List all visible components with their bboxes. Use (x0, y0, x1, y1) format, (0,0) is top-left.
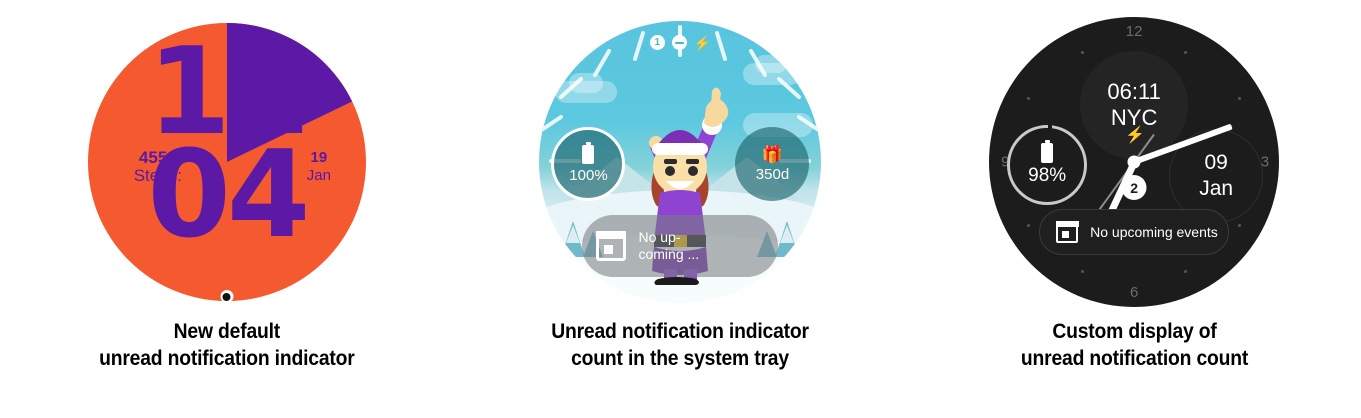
panel-caption-1: New default unread notification indicato… (99, 318, 355, 372)
event-text-line-2: coming ... (638, 246, 699, 263)
panel-caption-2: Unread notification indicator count in t… (552, 318, 810, 372)
battery-complication[interactable]: 98% (1007, 125, 1087, 205)
battery-value: 100% (569, 167, 607, 184)
hour-marker-6: 6 (1130, 284, 1138, 301)
winter-illustration-watch-face[interactable]: 1 ⚡ 100% 🎁 350d No up- coming ... (539, 21, 821, 303)
cloud-decoration (755, 55, 787, 73)
do-not-disturb-icon[interactable] (672, 35, 687, 50)
hour-tick (1184, 51, 1187, 54)
watch-preview-3: 12 3 6 9 06:11 NYC ⚡ 09 J (989, 12, 1279, 312)
hour-tick (1238, 224, 1241, 227)
hour-digits: 11 (88, 41, 366, 144)
unread-notification-dot-icon[interactable] (218, 288, 235, 301)
gift-countdown-complication[interactable]: 🎁 350d (735, 127, 809, 201)
panel-caption-3: Custom display of unread notification co… (1021, 318, 1248, 372)
event-text-line-1: No up- (638, 229, 699, 246)
caption-line-1: Custom display of (1021, 318, 1248, 345)
hour-tick (1027, 97, 1030, 100)
digital-time: 11 04 (88, 41, 366, 247)
gift-icon: 🎁 (762, 146, 783, 163)
unread-count-badge[interactable]: 1 (650, 35, 665, 50)
date-day: 09 (1204, 150, 1227, 176)
hour-tick (1081, 270, 1084, 273)
date-month: Jan (288, 167, 350, 185)
gift-countdown-value: 350d (756, 166, 789, 183)
panel-custom-unread-count: 12 3 6 9 06:11 NYC ⚡ 09 J (914, 0, 1354, 418)
cloud-decoration (569, 73, 603, 93)
event-text: No up- coming ... (638, 229, 699, 263)
system-tray: 1 ⚡ (539, 35, 821, 50)
hour-tick (1027, 224, 1030, 227)
watch-preview-1: 11 04 4556 Steps: 19 Jan (82, 12, 372, 312)
date-complication[interactable]: 19 Jan (288, 149, 350, 185)
caption-line-1: Unread notification indicator (552, 318, 810, 345)
watch-face-comparison-board: 11 04 4556 Steps: 19 Jan New default unr… (0, 0, 1361, 418)
caption-line-2: unread notification count (1021, 345, 1248, 372)
battery-icon (1041, 143, 1053, 163)
event-complication-pill[interactable]: No upcoming events (1039, 209, 1229, 255)
panel-new-default-indicator: 11 04 4556 Steps: 19 Jan New default unr… (7, 0, 447, 418)
caption-line-1: New default (99, 318, 355, 345)
date-month: Jan (1199, 176, 1233, 202)
steps-value: 4556 (108, 149, 208, 167)
battery-progress-ring (1007, 125, 1087, 205)
hour-tick (1081, 51, 1084, 54)
date-day: 19 (288, 149, 350, 167)
steps-label: Steps: (108, 167, 208, 185)
battery-ring-gap (1048, 123, 1052, 129)
unread-count-badge[interactable]: 2 (1122, 175, 1147, 200)
lightning-bolt-icon: ⚡ (1125, 125, 1145, 145)
hour-tick (1238, 97, 1241, 100)
battery-icon (582, 145, 594, 164)
calendar-icon (596, 231, 626, 261)
event-text: No upcoming events (1090, 224, 1218, 240)
hour-tick (1184, 270, 1187, 273)
battery-complication[interactable]: 100% (551, 127, 625, 201)
orange-digital-watch-face[interactable]: 11 04 4556 Steps: 19 Jan (88, 23, 366, 301)
panel-system-tray-count: 1 ⚡ 100% 🎁 350d No up- coming ... (460, 0, 900, 418)
hour-marker-12: 12 (1126, 23, 1143, 40)
world-clock-time: 06:11 (1107, 79, 1160, 105)
event-complication-pill[interactable]: No up- coming ... (582, 215, 778, 277)
steps-complication[interactable]: 4556 Steps: (108, 149, 208, 185)
hands-center-pivot (1128, 156, 1141, 169)
lightning-bolt-icon: ⚡ (694, 36, 711, 50)
caption-line-2: unread notification indicator (99, 345, 355, 372)
calendar-icon (1056, 221, 1078, 243)
watch-preview-2: 1 ⚡ 100% 🎁 350d No up- coming ... (535, 12, 825, 312)
caption-line-2: count in the system tray (552, 345, 810, 372)
dark-analog-watch-face[interactable]: 12 3 6 9 06:11 NYC ⚡ 09 J (989, 17, 1279, 307)
